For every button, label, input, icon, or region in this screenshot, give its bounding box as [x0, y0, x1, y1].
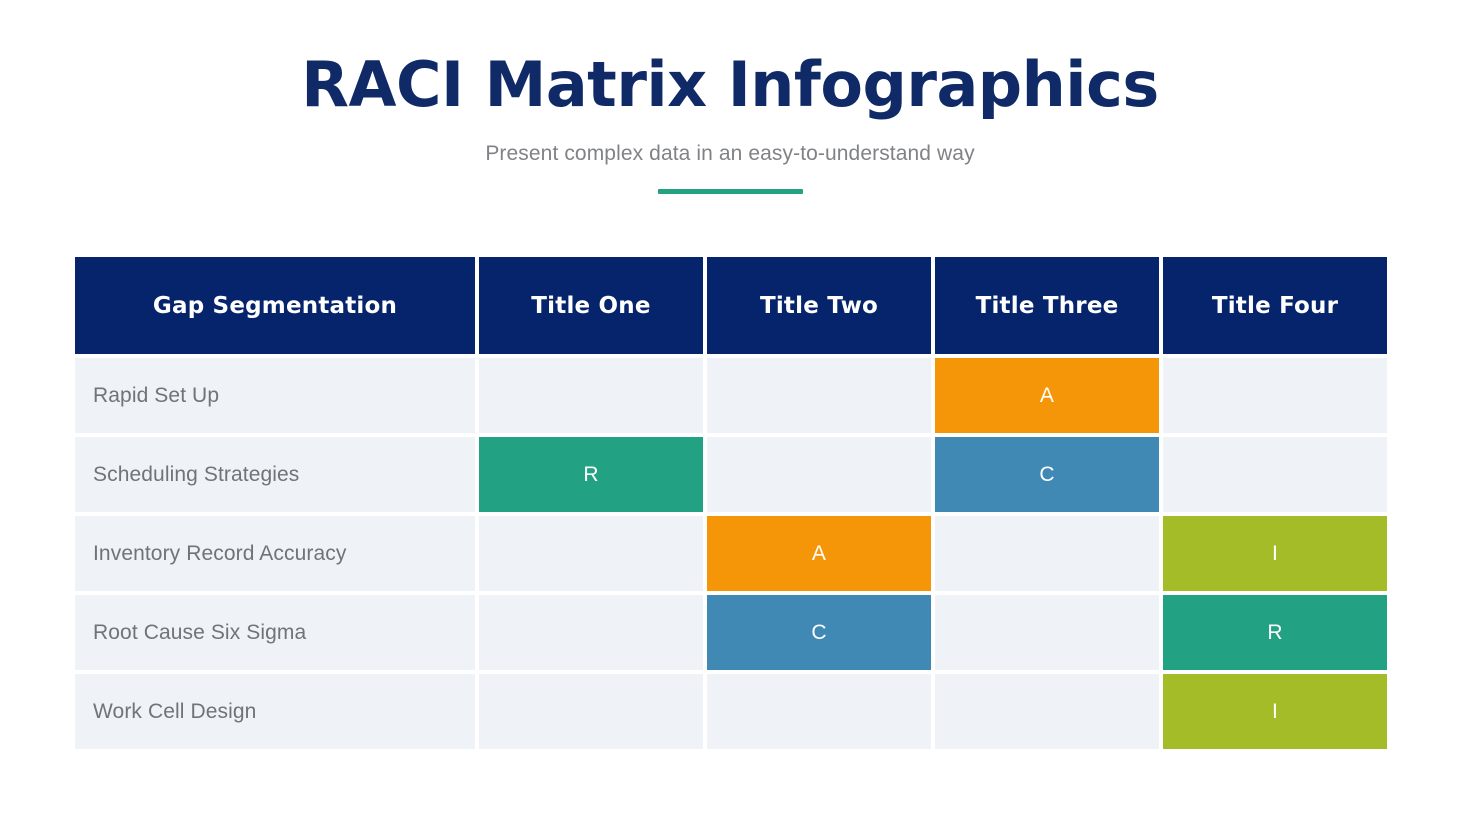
matrix-cell-letter: A — [812, 542, 826, 566]
matrix-cell-root-cause-six-sigma-title-four[interactable]: R — [1163, 595, 1387, 670]
table-row: Scheduling StrategiesRC — [75, 437, 1385, 512]
column-header-title-four[interactable]: Title Four — [1163, 257, 1387, 354]
row-header-label: Work Cell Design — [93, 700, 256, 724]
column-header-gap-segmentation[interactable]: Gap Segmentation — [75, 257, 475, 354]
matrix-cell-rapid-set-up-title-four[interactable] — [1163, 358, 1387, 433]
matrix-cell-letter: R — [1267, 621, 1282, 645]
matrix-cell-letter: I — [1272, 542, 1278, 566]
column-header-label: Title Two — [760, 293, 878, 319]
row-header-work-cell-design[interactable]: Work Cell Design — [75, 674, 475, 749]
matrix-cell-letter: C — [811, 621, 826, 645]
matrix-cell-inventory-record-accuracy-title-one[interactable] — [479, 516, 703, 591]
column-header-title-two[interactable]: Title Two — [707, 257, 931, 354]
row-header-root-cause-six-sigma[interactable]: Root Cause Six Sigma — [75, 595, 475, 670]
matrix-cell-work-cell-design-title-four[interactable]: I — [1163, 674, 1387, 749]
column-header-label: Title One — [531, 293, 650, 319]
column-header-label: Title Three — [976, 293, 1119, 319]
matrix-cell-scheduling-strategies-title-four[interactable] — [1163, 437, 1387, 512]
row-header-inventory-record-accuracy[interactable]: Inventory Record Accuracy — [75, 516, 475, 591]
column-header-title-one[interactable]: Title One — [479, 257, 703, 354]
matrix-cell-letter: C — [1039, 463, 1054, 487]
matrix-cell-letter: I — [1272, 700, 1278, 724]
matrix-cell-work-cell-design-title-one[interactable] — [479, 674, 703, 749]
matrix-cell-root-cause-six-sigma-title-two[interactable]: C — [707, 595, 931, 670]
row-header-rapid-set-up[interactable]: Rapid Set Up — [75, 358, 475, 433]
matrix-cell-scheduling-strategies-title-one[interactable]: R — [479, 437, 703, 512]
row-header-label: Inventory Record Accuracy — [93, 542, 346, 566]
matrix-cell-rapid-set-up-title-three[interactable]: A — [935, 358, 1159, 433]
matrix-cell-root-cause-six-sigma-title-one[interactable] — [479, 595, 703, 670]
slide-header: RACI Matrix Infographics Present complex… — [0, 0, 1460, 194]
matrix-cell-rapid-set-up-title-one[interactable] — [479, 358, 703, 433]
row-header-label: Rapid Set Up — [93, 384, 219, 408]
raci-matrix-table: Gap SegmentationTitle OneTitle TwoTitle … — [75, 257, 1385, 749]
column-header-label: Title Four — [1212, 293, 1338, 319]
page-title: RACI Matrix Infographics — [0, 54, 1460, 116]
matrix-cell-inventory-record-accuracy-title-two[interactable]: A — [707, 516, 931, 591]
column-header-title-three[interactable]: Title Three — [935, 257, 1159, 354]
matrix-cell-root-cause-six-sigma-title-three[interactable] — [935, 595, 1159, 670]
matrix-cell-scheduling-strategies-title-two[interactable] — [707, 437, 931, 512]
table-row: Work Cell DesignI — [75, 674, 1385, 749]
matrix-cell-letter: A — [1040, 384, 1054, 408]
column-header-label: Gap Segmentation — [153, 293, 397, 319]
table-row: Inventory Record AccuracyAI — [75, 516, 1385, 591]
matrix-cell-letter: R — [583, 463, 598, 487]
table-row: Root Cause Six SigmaCR — [75, 595, 1385, 670]
table-row: Rapid Set UpA — [75, 358, 1385, 433]
slide-canvas: RACI Matrix Infographics Present complex… — [0, 0, 1460, 821]
matrix-cell-inventory-record-accuracy-title-four[interactable]: I — [1163, 516, 1387, 591]
matrix-cell-rapid-set-up-title-two[interactable] — [707, 358, 931, 433]
accent-divider — [658, 189, 803, 194]
row-header-label: Root Cause Six Sigma — [93, 621, 306, 645]
matrix-header-row: Gap SegmentationTitle OneTitle TwoTitle … — [75, 257, 1385, 354]
matrix-cell-scheduling-strategies-title-three[interactable]: C — [935, 437, 1159, 512]
row-header-label: Scheduling Strategies — [93, 463, 299, 487]
matrix-cell-inventory-record-accuracy-title-three[interactable] — [935, 516, 1159, 591]
matrix-cell-work-cell-design-title-two[interactable] — [707, 674, 931, 749]
row-header-scheduling-strategies[interactable]: Scheduling Strategies — [75, 437, 475, 512]
matrix-cell-work-cell-design-title-three[interactable] — [935, 674, 1159, 749]
page-subtitle: Present complex data in an easy-to-under… — [0, 142, 1460, 166]
